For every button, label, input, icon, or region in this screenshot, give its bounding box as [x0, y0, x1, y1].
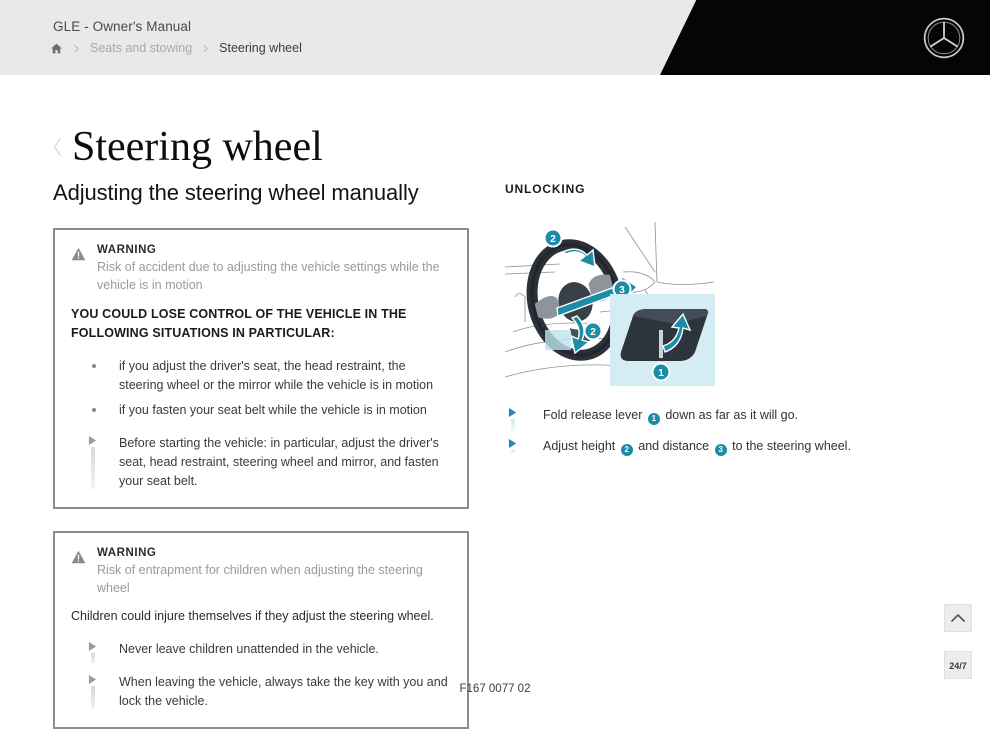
svg-text:2: 2: [550, 234, 556, 245]
list-item: Never leave children unattended in the v…: [71, 640, 451, 659]
step-text-after: to the steering wheel.: [732, 439, 851, 453]
warning-body: Children could injure themselves if they…: [71, 607, 451, 626]
warning-triangle-icon: [71, 247, 86, 261]
figure-callout-2-bottom: 2: [585, 323, 602, 340]
left-column: Adjusting the steering wheel manually WA…: [53, 180, 469, 751]
warning-action-list: Before starting the vehicle: in particul…: [71, 434, 451, 491]
chevron-up-icon: [951, 613, 965, 623]
list-item: if you adjust the driver's seat, the hea…: [71, 357, 451, 395]
warning-triangle-icon: [71, 550, 86, 564]
chevron-right-icon: [72, 43, 81, 54]
action-triangle-icon: [508, 408, 517, 417]
action-triangle-icon: [508, 439, 517, 448]
step-text-after: down as far as it will go.: [665, 408, 798, 422]
figure-inset-panel: 1: [610, 294, 715, 386]
unlocking-heading: UNLOCKING: [505, 182, 935, 196]
unlocking-step-list: Fold release lever 1 down as far as it w…: [505, 406, 935, 456]
warning-box: WARNING Risk of entrapment for children …: [53, 531, 469, 729]
warning-subtitle: Risk of accident due to adjusting the ve…: [97, 258, 451, 294]
figure-callout-2-top: 2: [545, 230, 562, 247]
page-title: Steering wheel: [72, 126, 323, 168]
manual-title: GLE - Owner's Manual: [53, 19, 191, 34]
breadcrumb: Seats and stowing Steering wheel: [50, 41, 302, 55]
list-item: if you fasten your seat belt while the v…: [71, 401, 451, 420]
support-button[interactable]: 24/7: [944, 651, 972, 679]
action-text: Before starting the vehicle: in particul…: [119, 436, 439, 488]
breadcrumb-item-seats-and-stowing[interactable]: Seats and stowing: [90, 41, 192, 55]
24-7-support-icon: 24/7: [947, 658, 969, 672]
chevron-left-icon[interactable]: [52, 135, 63, 159]
figure-caption: F167 0077 02: [0, 683, 990, 695]
mercedes-benz-star-icon: [922, 16, 966, 60]
svg-text:1: 1: [658, 368, 664, 379]
section-heading: Adjusting the steering wheel manually: [53, 180, 469, 206]
step-bar: [511, 419, 515, 431]
svg-text:2: 2: [590, 327, 596, 338]
step-bar: [511, 450, 515, 453]
list-item: Before starting the vehicle: in particul…: [71, 434, 451, 491]
step-text-before: Adjust height: [543, 439, 615, 453]
warning-header: WARNING Risk of accident due to adjustin…: [71, 244, 451, 294]
warning-label: WARNING: [97, 547, 451, 559]
right-column: UNLOCKING: [505, 180, 935, 456]
warning-subtitle: Risk of entrapment for children when adj…: [97, 561, 451, 597]
list-item: Adjust height 2 and distance 3 to the st…: [505, 437, 935, 456]
action-text: Never leave children unattended in the v…: [119, 642, 379, 656]
list-item: Fold release lever 1 down as far as it w…: [505, 406, 935, 425]
action-bar: [91, 447, 95, 489]
step-text-before: Fold release lever: [543, 408, 642, 422]
warning-label: WARNING: [97, 244, 451, 256]
svg-text:24/7: 24/7: [949, 661, 967, 671]
inline-callout-badge: 1: [648, 413, 660, 425]
warning-action-list: Never leave children unattended in the v…: [71, 640, 451, 711]
breadcrumb-item-steering-wheel[interactable]: Steering wheel: [219, 41, 302, 55]
home-icon[interactable]: [50, 42, 63, 55]
inline-callout-badge: 3: [715, 444, 727, 456]
warning-bullet-list: if you adjust the driver's seat, the hea…: [71, 357, 451, 420]
chevron-right-icon: [201, 43, 210, 54]
action-triangle-icon: [88, 436, 97, 445]
inline-callout-badge: 2: [621, 444, 633, 456]
steering-wheel-adjustment-diagram: 2 2 3 1: [505, 212, 715, 387]
action-triangle-icon: [88, 642, 97, 651]
warning-box: WARNING Risk of accident due to adjustin…: [53, 228, 469, 509]
step-text-mid: and distance: [638, 439, 709, 453]
warning-header: WARNING Risk of entrapment for children …: [71, 547, 451, 597]
action-bar: [91, 653, 95, 663]
scroll-to-top-button[interactable]: [944, 604, 972, 632]
warning-emphasis: YOU COULD LOSE CONTROL OF THE VEHICLE IN…: [71, 305, 451, 343]
page-header: GLE - Owner's Manual Seats and stowing S…: [0, 0, 990, 75]
